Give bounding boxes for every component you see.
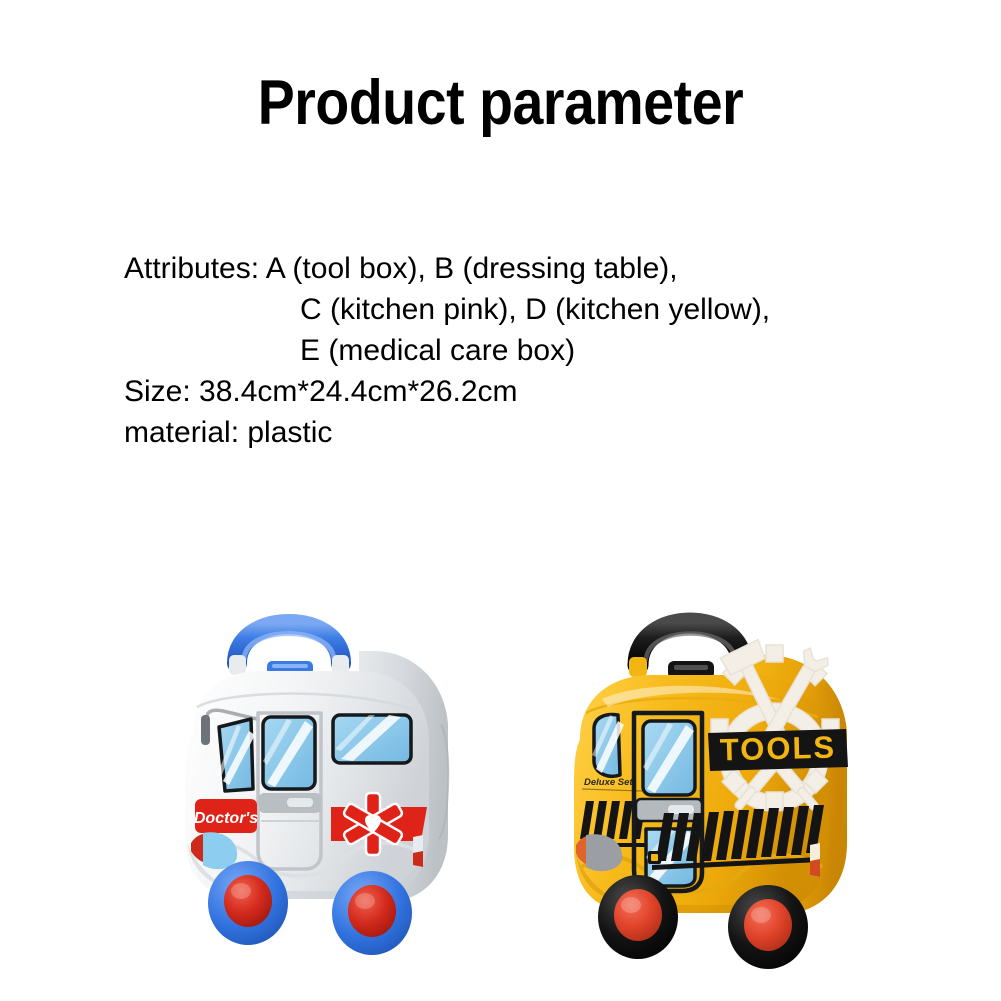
page-title: Product parameter [60,72,941,135]
spec-line-size: Size: 38.4cm*24.4cm*26.2cm [124,371,944,412]
wheel-front [598,875,678,959]
product-image-row: Doctor's [0,575,1001,975]
product-spec-block: Attributes: A (tool box), B (dressing ta… [124,248,944,453]
product-image-medical-care-box: Doctor's [145,585,475,955]
product-image-tool-box: Deluxe Set [530,589,875,964]
wheel-rear [728,885,808,969]
rear-lamp [413,835,423,867]
spec-line-attributes-3: E (medical care box) [124,330,944,371]
spec-line-attributes-1: Attributes: A (tool box), B (dressing ta… [124,248,944,289]
spec-line-material: material: plastic [124,412,944,453]
wheel-rear [332,871,412,955]
svg-text:TOOLS: TOOLS [719,729,836,767]
window-group [592,715,624,777]
spec-line-attributes-2: C (kitchen pink), D (kitchen yellow), [124,289,944,330]
svg-text:Doctor's: Doctor's [194,810,258,827]
doctors-badge: Doctor's [194,799,258,833]
rear-lamp [810,843,820,877]
wheel-front [208,861,288,945]
svg-text:Deluxe Set: Deluxe Set [584,777,633,788]
